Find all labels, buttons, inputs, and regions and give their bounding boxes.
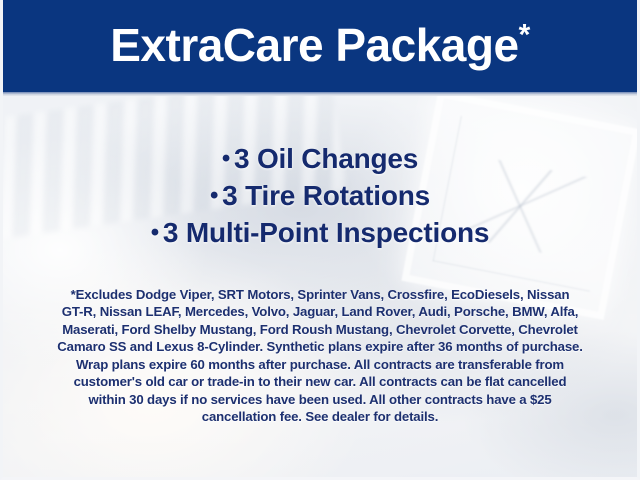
title-asterisk: * bbox=[519, 19, 530, 52]
benefit-label: 3 Oil Changes bbox=[234, 143, 418, 174]
banner-underline-divider bbox=[0, 92, 640, 96]
benefit-item-oil-changes: •3 Oil Changes bbox=[0, 140, 640, 177]
benefits-list: •3 Oil Changes •3 Tire Rotations •3 Mult… bbox=[0, 140, 640, 252]
disclaimer-line: customer's old car or trade-in to their … bbox=[26, 373, 614, 390]
bullet-icon: • bbox=[210, 182, 218, 209]
disclaimer-line: Maserati, Ford Shelby Mustang, Ford Rous… bbox=[26, 321, 614, 338]
disclaimer-line: Wrap plans expire 60 months after purcha… bbox=[26, 356, 614, 373]
benefit-item-tire-rotations: •3 Tire Rotations bbox=[0, 177, 640, 214]
benefit-item-multi-point-inspections: •3 Multi-Point Inspections bbox=[0, 214, 640, 251]
benefit-label: 3 Tire Rotations bbox=[222, 180, 430, 211]
bullet-icon: • bbox=[222, 145, 230, 172]
disclaimer-line: within 30 days if no services have been … bbox=[26, 391, 614, 408]
benefit-label: 3 Multi-Point Inspections bbox=[163, 217, 489, 248]
disclaimer-line: cancellation fee. See dealer for details… bbox=[26, 408, 614, 425]
extracare-package-ad: ExtraCare Package* •3 Oil Changes •3 Tir… bbox=[0, 0, 640, 480]
disclaimer-line: *Excludes Dodge Viper, SRT Motors, Sprin… bbox=[26, 286, 614, 303]
disclaimer-text: *Excludes Dodge Viper, SRT Motors, Sprin… bbox=[26, 286, 614, 425]
page-title: ExtraCare Package* bbox=[110, 22, 530, 68]
disclaimer-line: GT-R, Nissan LEAF, Mercedes, Volvo, Jagu… bbox=[26, 303, 614, 320]
page-title-text: ExtraCare Package bbox=[110, 19, 518, 71]
bullet-icon: • bbox=[151, 219, 159, 246]
disclaimer-line: Camaro SS and Lexus 8-Cylinder. Syntheti… bbox=[26, 338, 614, 355]
header-banner: ExtraCare Package* bbox=[0, 0, 640, 92]
